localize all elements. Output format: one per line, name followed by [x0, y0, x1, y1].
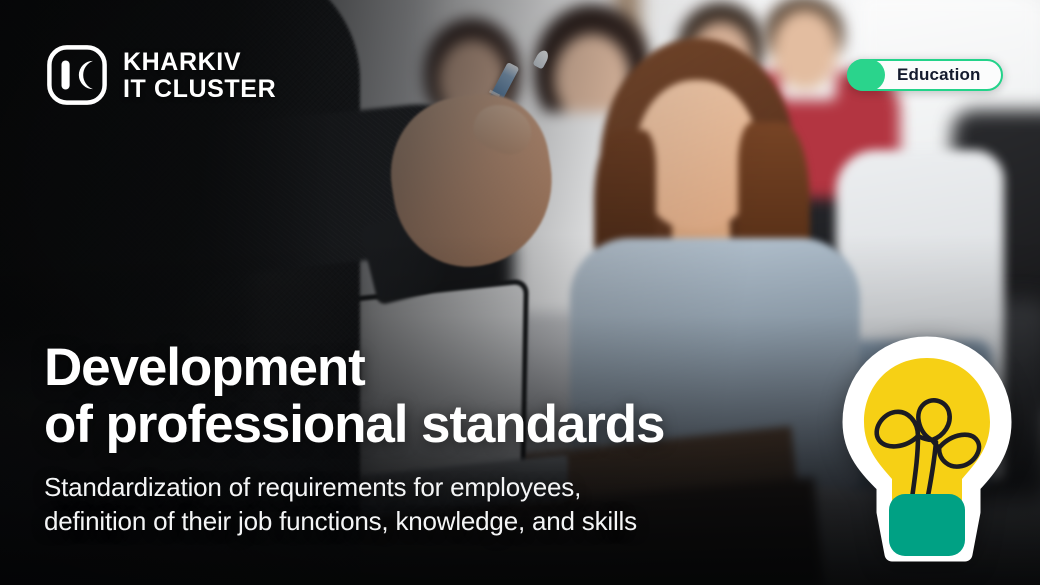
kharkiv-it-cluster-mark-icon: [46, 44, 108, 106]
brand-name-line2: IT CLUSTER: [123, 76, 276, 102]
lightbulb-illustration: [832, 336, 1022, 562]
headline-line2: of professional standards: [44, 397, 774, 454]
brand-logo[interactable]: KHARKIV IT CLUSTER: [46, 44, 276, 106]
brand-name-line1: KHARKIV: [123, 49, 276, 75]
promo-banner: KHARKIV IT CLUSTER Education Development…: [0, 0, 1040, 585]
page-title: Development of professional standards: [44, 340, 774, 453]
page-subtitle: Standardization of requirements for empl…: [44, 471, 774, 539]
category-badge[interactable]: Education: [847, 59, 1003, 91]
category-badge-label: Education: [897, 65, 981, 85]
status-dot-icon: [847, 59, 885, 91]
headline-line1: Development: [44, 338, 365, 397]
lightbulb-icon: [832, 336, 1022, 562]
subtitle-line2: definition of their job functions, knowl…: [44, 505, 774, 539]
copy-block: Development of professional standards St…: [44, 340, 774, 539]
brand-wordmark: KHARKIV IT CLUSTER: [123, 49, 276, 102]
subtitle-line1: Standardization of requirements for empl…: [44, 472, 581, 502]
